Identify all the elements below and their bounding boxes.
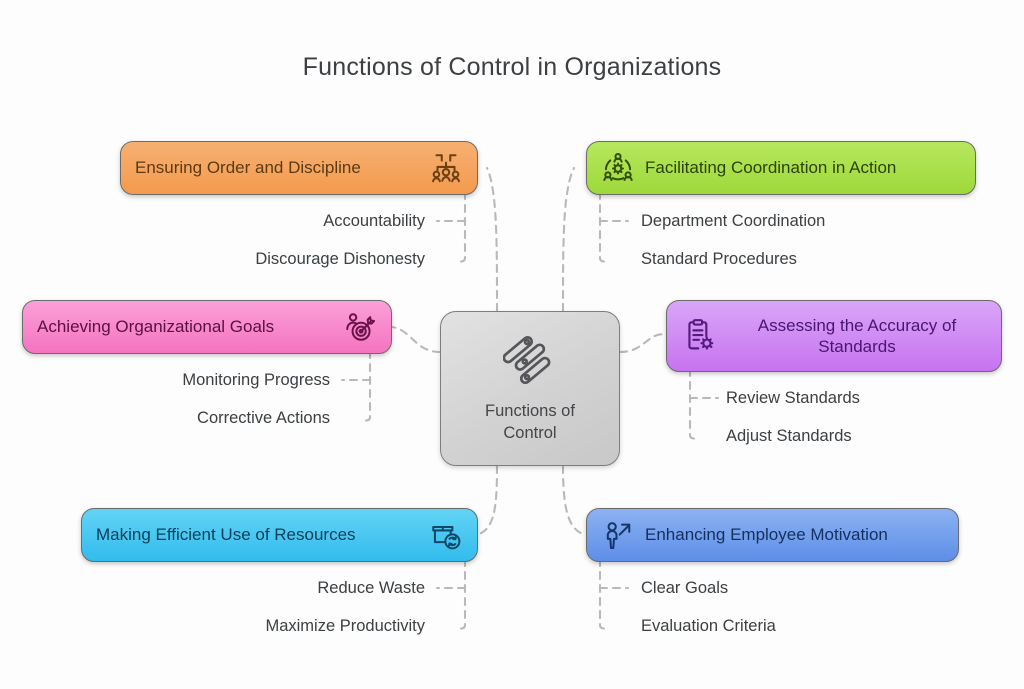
center-node[interactable]: Functions of Control xyxy=(440,311,620,466)
wire-assessing-the-accuracy-of-standards-leaves xyxy=(690,369,700,439)
wire-facilitating-coordination-in-action-leaves xyxy=(600,192,610,262)
branch-achieving-organizational-goals[interactable]: Achieving Organizational Goals xyxy=(22,300,392,354)
wire-making-efficient-use-of-resources-leaves xyxy=(455,559,465,629)
page-title: Functions of Control in Organizations xyxy=(0,53,1024,82)
wire-enhancing-employee-motivation-leaves xyxy=(600,559,610,629)
leaf-reduce-waste: Reduce Waste xyxy=(140,580,425,597)
person-growth-arrow-icon xyxy=(601,518,635,552)
wire-center-to-making-efficient-use-of-resources xyxy=(479,466,497,534)
branch-assessing-the-accuracy-of-standards[interactable]: Assessing the Accuracy of Standards xyxy=(666,300,1002,372)
person-target-icon xyxy=(343,310,377,344)
leaf-department-coordination: Department Coordination xyxy=(641,213,971,230)
branch-label: Making Efficient Use of Resources xyxy=(96,524,419,545)
wire-center-to-facilitating-coordination-in-action xyxy=(563,168,574,311)
mindmap-canvas: Functions of Control in Organizations xyxy=(0,0,1024,689)
center-node-label: Functions of Control xyxy=(465,401,595,445)
leaf-clear-goals: Clear Goals xyxy=(641,580,971,597)
leaf-corrective-actions: Corrective Actions xyxy=(45,410,330,427)
branch-label: Assessing the Accuracy of Standards xyxy=(727,315,987,358)
leaf-standard-procedures: Standard Procedures xyxy=(641,251,971,268)
branch-ensuring-order-and-discipline[interactable]: Ensuring Order and Discipline xyxy=(120,141,478,195)
leaf-monitoring-progress: Monitoring Progress xyxy=(45,372,330,389)
wire-achieving-organizational-goals-leaves xyxy=(360,351,370,421)
branch-label: Achieving Organizational Goals xyxy=(37,316,333,337)
wire-center-to-achieving-organizational-goals xyxy=(392,327,440,352)
wire-center-to-ensuring-order-and-discipline xyxy=(487,168,497,311)
branch-facilitating-coordination-in-action[interactable]: Facilitating Coordination in Action xyxy=(586,141,976,195)
leaf-evaluation-criteria: Evaluation Criteria xyxy=(641,618,971,635)
branch-label: Ensuring Order and Discipline xyxy=(135,157,419,178)
sliders-icon xyxy=(503,332,557,391)
box-recycle-icon xyxy=(429,518,463,552)
leaf-maximize-productivity: Maximize Productivity xyxy=(140,618,425,635)
wire-ensuring-order-and-discipline-leaves xyxy=(455,192,465,262)
team-hierarchy-icon xyxy=(429,151,463,185)
leaf-accountability: Accountability xyxy=(140,213,425,230)
leaf-discourage-dishonesty: Discourage Dishonesty xyxy=(140,251,425,268)
clipboard-gear-icon xyxy=(681,318,717,354)
leaf-adjust-standards: Adjust Standards xyxy=(726,428,1006,445)
wire-center-to-enhancing-employee-motivation xyxy=(563,466,583,534)
center-node-label-line2: Control xyxy=(503,424,556,442)
branch-label: Enhancing Employee Motivation xyxy=(645,524,944,545)
branch-enhancing-employee-motivation[interactable]: Enhancing Employee Motivation xyxy=(586,508,959,562)
branch-making-efficient-use-of-resources[interactable]: Making Efficient Use of Resources xyxy=(81,508,478,562)
collaboration-gear-icon xyxy=(601,151,635,185)
center-node-label-line1: Functions of xyxy=(485,402,575,420)
wire-center-to-assessing-the-accuracy-of-standards xyxy=(620,334,668,352)
branch-label: Facilitating Coordination in Action xyxy=(645,157,961,178)
leaf-review-standards: Review Standards xyxy=(726,390,1006,407)
